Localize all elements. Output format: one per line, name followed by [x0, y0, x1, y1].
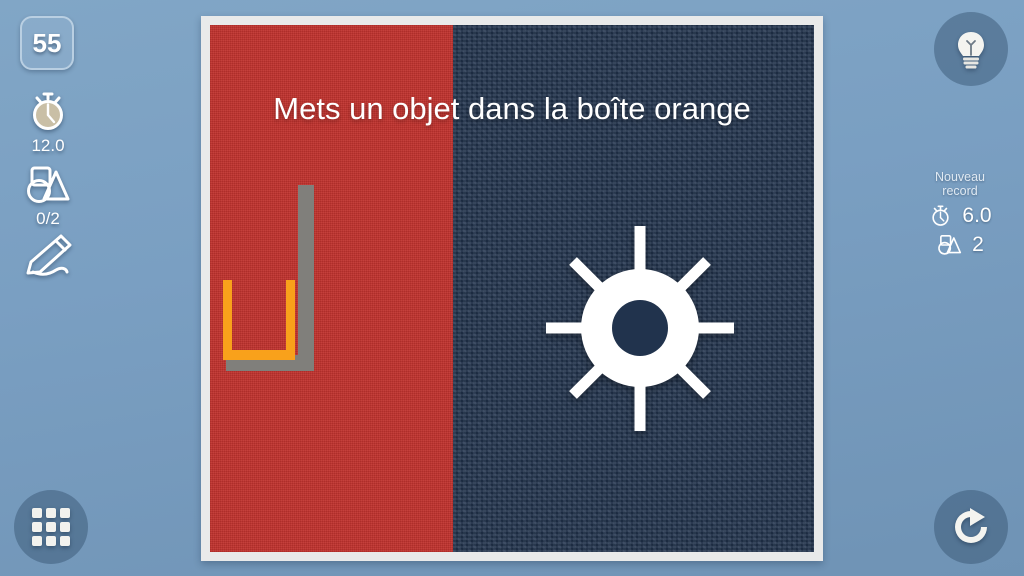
record-time-value: 6.0	[962, 204, 991, 228]
target-box-right-wall	[286, 280, 295, 360]
restart-icon	[951, 507, 991, 547]
play-area[interactable]: Mets un objet dans la boîte orange	[210, 25, 814, 552]
record-time-row: 6.0	[908, 203, 1012, 228]
record-title-line1: Nouveau	[908, 170, 1012, 184]
menu-button[interactable]	[14, 490, 88, 564]
shapes-icon	[0, 163, 96, 207]
pencil-draw-icon[interactable]	[0, 232, 96, 278]
shapes-stat: 0/2	[0, 163, 96, 229]
play-frame: Mets un objet dans la boîte orange	[201, 16, 823, 561]
lightbulb-icon	[952, 29, 990, 69]
level-badge: 55	[20, 16, 74, 70]
restart-button[interactable]	[934, 490, 1008, 564]
stopwatch-icon	[0, 88, 96, 134]
record-title-line2: record	[908, 184, 1012, 198]
shapes-icon	[936, 233, 963, 257]
timer-stat: 12.0	[0, 88, 96, 156]
record-shapes-row: 2	[908, 233, 1012, 257]
target-box-left-wall	[223, 280, 232, 360]
target-box-bottom	[223, 350, 295, 360]
sun-object[interactable]	[540, 210, 740, 447]
level-number: 55	[33, 28, 62, 59]
grid-menu-icon	[31, 507, 71, 547]
wall-vertical-segment	[298, 185, 314, 371]
shapes-value: 0/2	[0, 209, 96, 229]
game-screen: 55 12.0	[0, 0, 1024, 576]
stopwatch-icon	[928, 203, 953, 228]
target-box	[223, 280, 295, 360]
new-record-panel: Nouveau record 6.0	[908, 170, 1012, 257]
timer-value: 12.0	[0, 136, 96, 156]
record-shapes-value: 2	[972, 233, 984, 257]
hint-button[interactable]	[934, 12, 1008, 86]
